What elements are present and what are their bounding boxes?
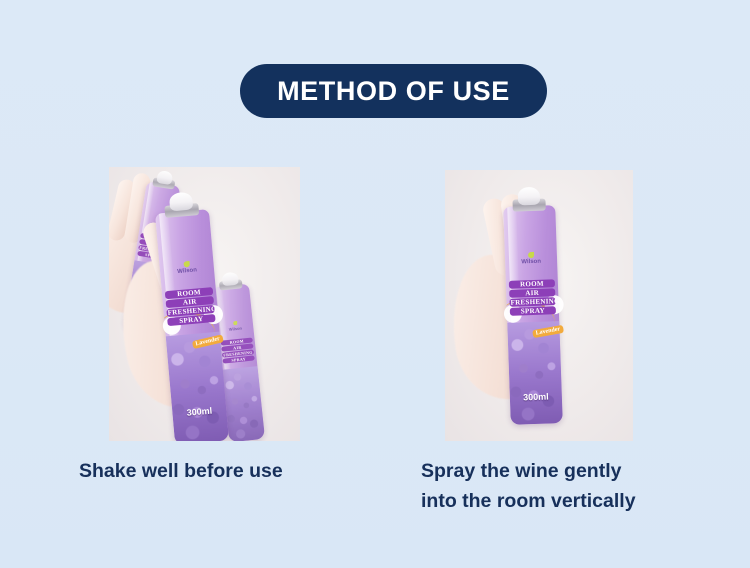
leaf-icon (233, 321, 237, 325)
can-label-line-2: AIR (509, 288, 555, 298)
can-nozzle-cap (169, 192, 193, 212)
can-label-block: ROOM AIR FRESHENING SPRAY (165, 287, 216, 327)
can-label-block: ROOM AIR FRESHENING SPRAY (509, 279, 556, 317)
can-label-line-3: FRESHENING (509, 297, 555, 307)
leaf-icon (528, 252, 534, 258)
can-label-line-1: ROOM (509, 279, 555, 289)
method-of-use-title: METHOD OF USE (277, 76, 510, 107)
can-brand-logo: Wilson (521, 252, 541, 266)
can-label-block: ROOM AIR FRESHENING SPRAY (221, 337, 255, 364)
infographic-page: METHOD OF USE Wilson ROOM AIR FRESHENING… (0, 0, 750, 568)
leaf-icon (183, 261, 190, 268)
step-2-caption: Spray the wine gently into the room vert… (421, 456, 696, 516)
spray-can: Wilson ROOM AIR FRESHENING SPRAY Lavende… (503, 205, 563, 425)
can-nozzle-cap (222, 272, 239, 287)
can-brand-logo: Wilson (228, 321, 242, 332)
can-nozzle-cap (518, 187, 541, 206)
step-1-caption: Shake well before use (79, 456, 283, 486)
can-brand-name: Wilson (521, 259, 541, 266)
step-1-photo: Wilson ROOM AIR FRESHENING SPRAY Wilson (109, 167, 300, 441)
step-2-caption-line-1: Spray the wine gently (421, 460, 621, 482)
can-brand-logo: Wilson (176, 260, 197, 275)
step-2-caption-line-2: into the room vertically (421, 490, 636, 512)
method-of-use-badge: METHOD OF USE (240, 64, 547, 118)
can-volume-text: 300ml (523, 392, 549, 403)
can-label-line-4: SPRAY (510, 306, 556, 316)
step-2-photo: Wilson ROOM AIR FRESHENING SPRAY Lavende… (445, 170, 633, 441)
